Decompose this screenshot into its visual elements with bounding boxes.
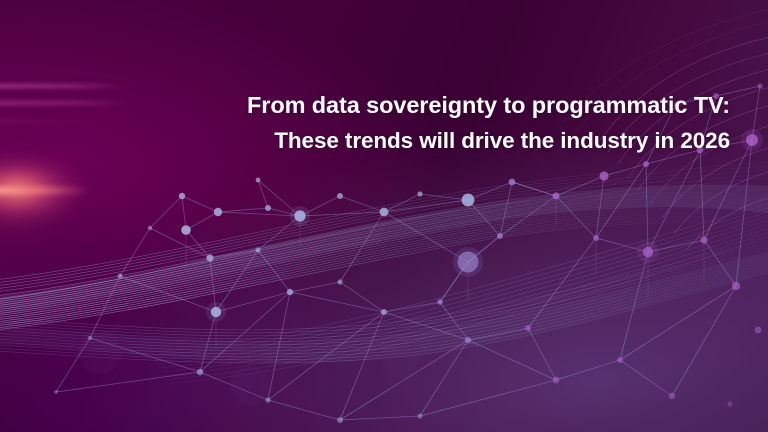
banner-title-line-1: From data sovereignty to programmatic TV… xyxy=(0,92,730,120)
hero-banner: From data sovereignty to programmatic TV… xyxy=(0,0,768,432)
vignette-overlay xyxy=(0,0,768,432)
banner-title-line-2: These trends will drive the industry in … xyxy=(0,128,730,155)
banner-title-block: From data sovereignty to programmatic TV… xyxy=(0,92,730,155)
